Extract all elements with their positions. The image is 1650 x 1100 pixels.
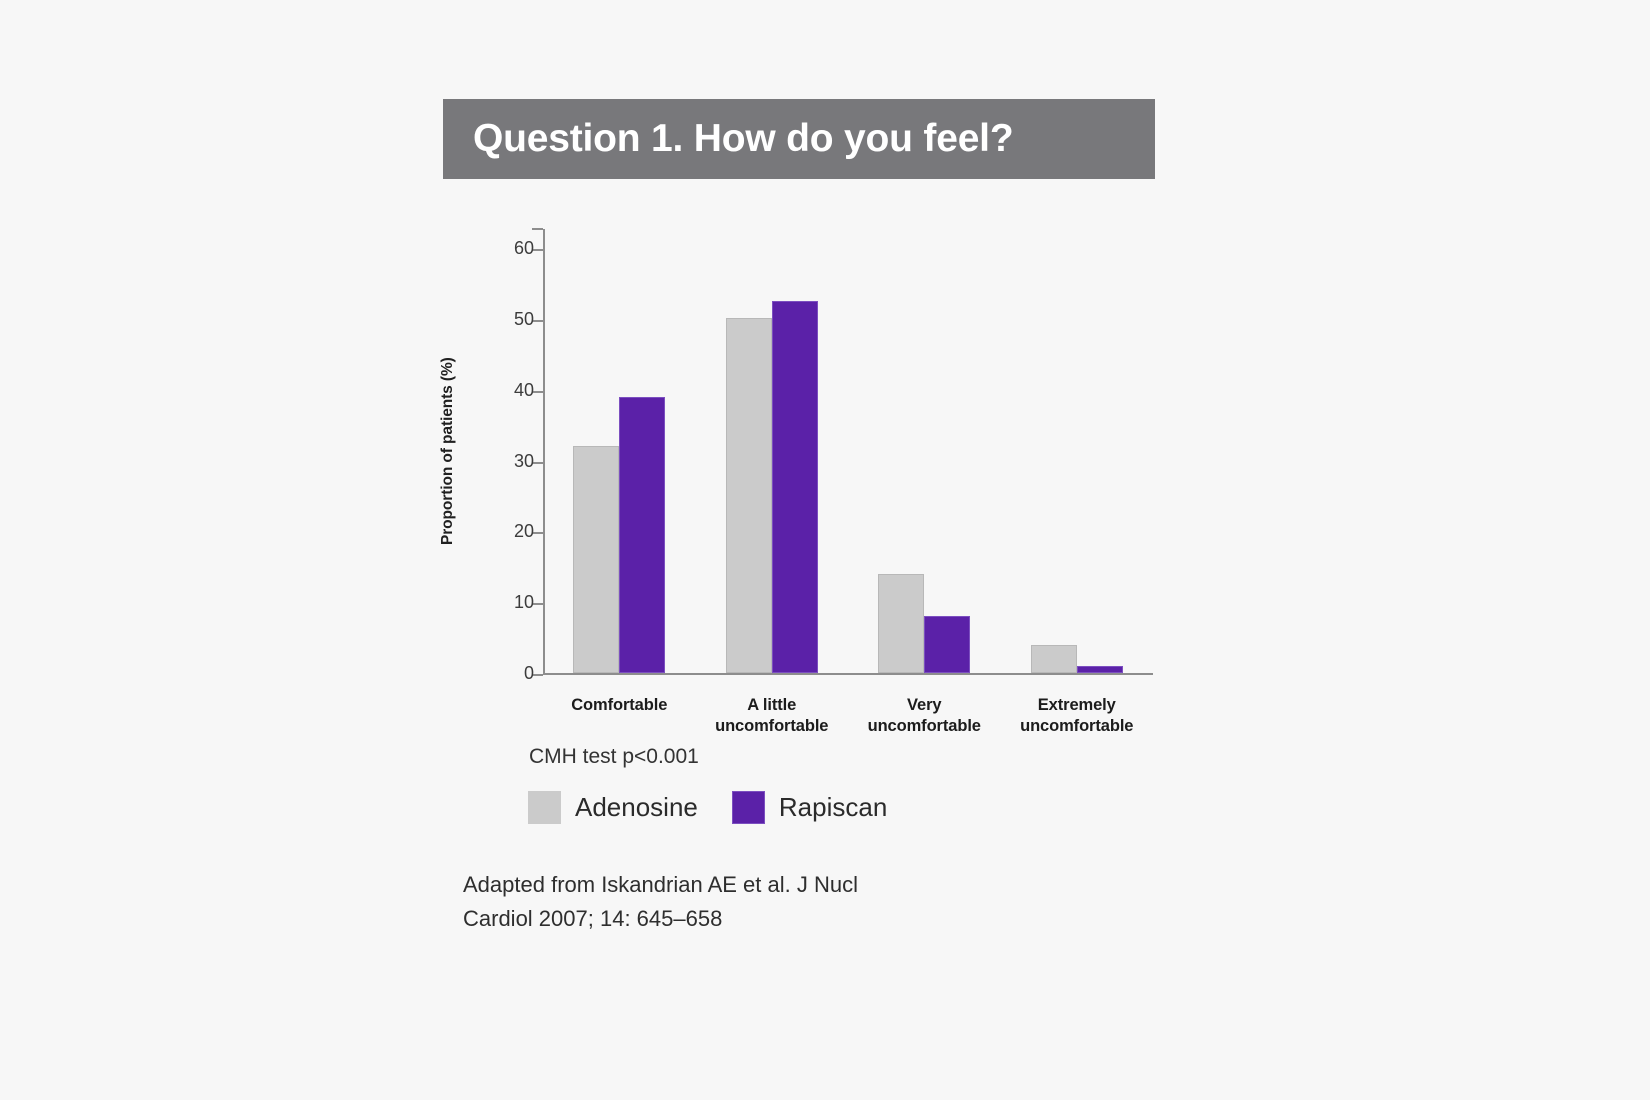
y-axis-title: Proportion of patients (%) [439,357,457,545]
x-axis-label-line: Extremely [983,695,1172,716]
legend-label-rapiscan: Rapiscan [779,792,887,823]
source-line-2: Cardiol 2007; 14: 645–658 [463,902,933,936]
x-axis-label-line: uncomfortable [983,716,1172,737]
bar-adenosine-1 [726,318,772,673]
bar-rapiscan-0 [619,397,665,673]
legend-item-rapiscan: Rapiscan [732,791,887,824]
source-line-1: Adapted from Iskandrian AE et al. J Nucl [463,868,933,902]
bar-rapiscan-2 [924,616,970,673]
legend-item-adenosine: Adenosine [528,791,698,824]
title-banner: Question 1. How do you feel? [443,99,1155,179]
y-tick-label: 30 [514,451,534,472]
y-tick-mark [532,228,543,230]
y-tick-label: 10 [514,592,534,613]
y-tick-label: 20 [514,521,534,542]
bar-rapiscan-1 [772,301,818,673]
legend-swatch-icon-adenosine [528,791,561,824]
page-title: Question 1. How do you feel? [443,117,1013,161]
y-tick-label: 50 [514,309,534,330]
legend-swatch-icon-rapiscan [732,791,765,824]
pvalue-annotation: CMH test p<0.001 [529,745,699,769]
source-citation: Adapted from Iskandrian AE et al. J Nucl… [463,868,933,936]
y-axis-line [543,229,545,675]
plot-area: 0102030405060 ComfortableA littleuncomfo… [543,229,1153,675]
y-tick-label: 40 [514,380,534,401]
chart-legend: Adenosine Rapiscan [528,791,887,824]
bar-chart: Proportion of patients (%) 0102030405060… [443,215,1163,735]
y-tick-label: 60 [514,238,534,259]
bar-adenosine-0 [573,446,619,673]
y-tick-label: 0 [524,663,534,684]
slide-canvas: Question 1. How do you feel? Proportion … [0,0,1650,1100]
bar-adenosine-2 [878,574,924,673]
legend-label-adenosine: Adenosine [575,792,698,823]
x-axis-label-3: Extremelyuncomfortable [983,695,1172,738]
x-axis-line [543,673,1153,675]
bar-rapiscan-3 [1077,666,1123,673]
bar-adenosine-3 [1031,645,1077,673]
